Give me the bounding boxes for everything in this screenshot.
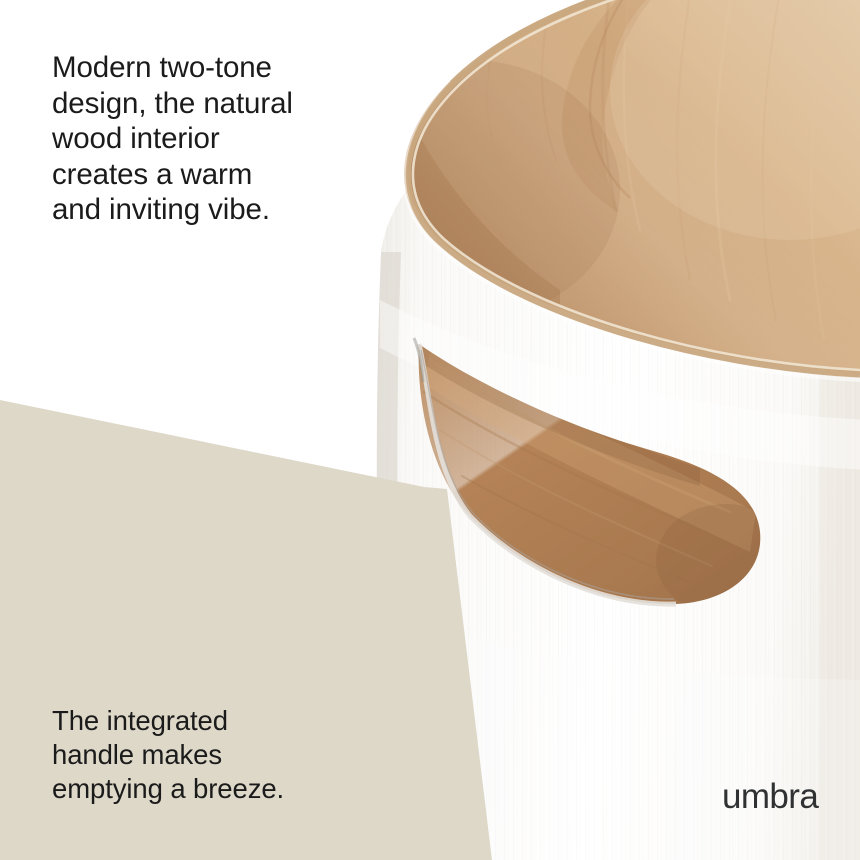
brand-logo-umbra: umbra	[722, 779, 818, 814]
headline-bottom-line-2: handle makes	[52, 738, 284, 772]
headline-top: Modern two-tone design, the natural wood…	[52, 50, 293, 228]
headline-top-line-2: design, the natural	[52, 86, 293, 122]
headline-top-line-4: creates a warm	[52, 157, 293, 193]
product-marketing-image: Modern two-tone design, the natural wood…	[0, 0, 860, 860]
headline-bottom-line-1: The integrated	[52, 704, 284, 738]
headline-top-line-5: and inviting vibe.	[52, 192, 293, 228]
headline-bottom-line-3: emptying a breeze.	[52, 772, 284, 806]
headline-top-line-3: wood interior	[52, 121, 293, 157]
headline-top-line-1: Modern two-tone	[52, 50, 293, 86]
headline-bottom: The integrated handle makes emptying a b…	[52, 704, 284, 806]
